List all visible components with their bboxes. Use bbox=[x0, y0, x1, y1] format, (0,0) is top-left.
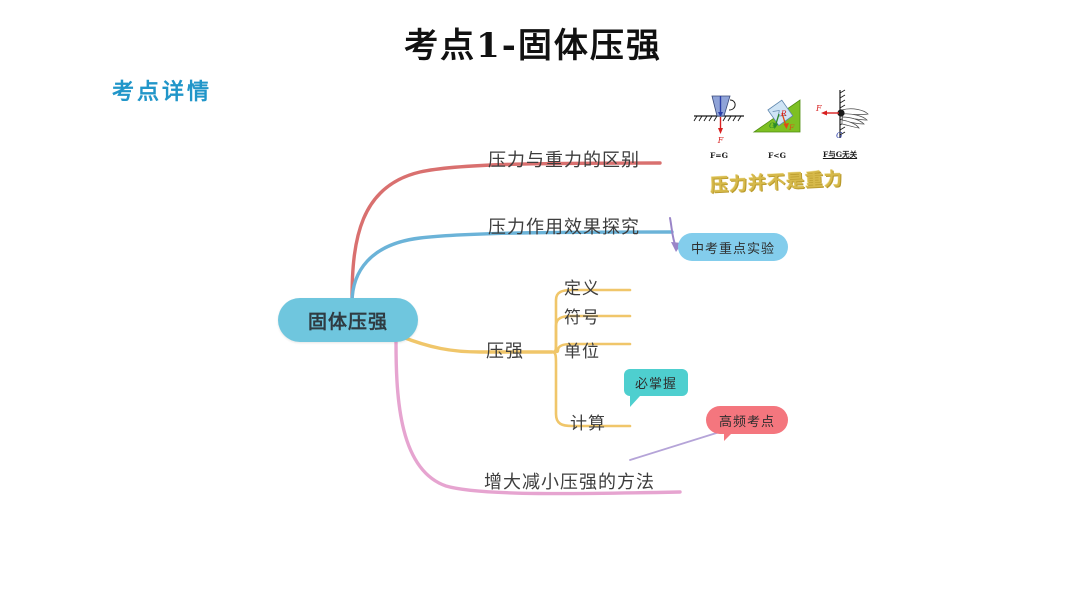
branch-line-2 bbox=[352, 232, 672, 303]
svg-text:F: F bbox=[815, 104, 822, 113]
sub-label-unit[interactable]: 单位 bbox=[564, 337, 600, 362]
callout-connector-1 bbox=[670, 218, 676, 247]
callout-high-frequency[interactable]: 高频考点 bbox=[706, 406, 788, 434]
sub-label-calculation[interactable]: 计算 bbox=[570, 409, 606, 434]
annotation-force-not-gravity: 压力并不是重力 bbox=[709, 165, 843, 198]
figure-caption-2: F<G bbox=[748, 151, 806, 160]
section-label: 考点详情 bbox=[112, 74, 212, 106]
cup-on-table-diagram: F F=G bbox=[690, 86, 748, 160]
page-title: 考点1-固体压强 bbox=[0, 18, 1066, 67]
callout-connector-3 bbox=[630, 430, 726, 460]
figure-strip: F F=G G F R F<G bbox=[690, 86, 876, 160]
root-node[interactable]: 固体压强 bbox=[278, 298, 418, 342]
branch-label-pressure[interactable]: 压强 bbox=[486, 337, 524, 363]
callout-key-experiment[interactable]: 中考重点实验 bbox=[678, 233, 788, 261]
hand-pressing-wall-diagram: F G F与G无关 bbox=[808, 86, 866, 160]
callout-high-frequency-label: 高频考点 bbox=[719, 411, 775, 430]
branch-label-pressure-vs-gravity[interactable]: 压力与重力的区别 bbox=[488, 146, 640, 172]
callout-must-master-label: 必掌握 bbox=[635, 373, 677, 392]
slide-canvas: 考点1-固体压强 考点详情 固体压强 压力与重力的区别 压力作用效果探究 压强 … bbox=[0, 0, 1066, 600]
branch-label-pressure-effect[interactable]: 压力作用效果探究 bbox=[488, 213, 640, 239]
svg-text:F: F bbox=[717, 136, 724, 145]
root-node-label: 固体压强 bbox=[308, 307, 388, 334]
branch-label-change-pressure-methods[interactable]: 增大减小压强的方法 bbox=[484, 468, 655, 494]
callout-high-frequency-tail bbox=[724, 432, 733, 441]
svg-text:G: G bbox=[836, 131, 843, 140]
callout-must-master[interactable]: 必掌握 bbox=[624, 369, 688, 396]
sub-label-definition[interactable]: 定义 bbox=[564, 274, 600, 299]
block-on-incline-diagram: G F R F<G bbox=[748, 86, 806, 160]
branch-line-3 bbox=[400, 336, 552, 352]
svg-text:G: G bbox=[769, 121, 775, 130]
figure-caption-3: F与G无关 bbox=[808, 149, 872, 160]
svg-text:R: R bbox=[780, 109, 787, 118]
callout-must-master-tail bbox=[630, 396, 640, 407]
callout-key-experiment-label: 中考重点实验 bbox=[691, 238, 775, 257]
figure-caption-1: F=G bbox=[690, 151, 748, 160]
svg-text:F: F bbox=[788, 123, 795, 132]
sub-label-symbol[interactable]: 符号 bbox=[564, 303, 600, 328]
